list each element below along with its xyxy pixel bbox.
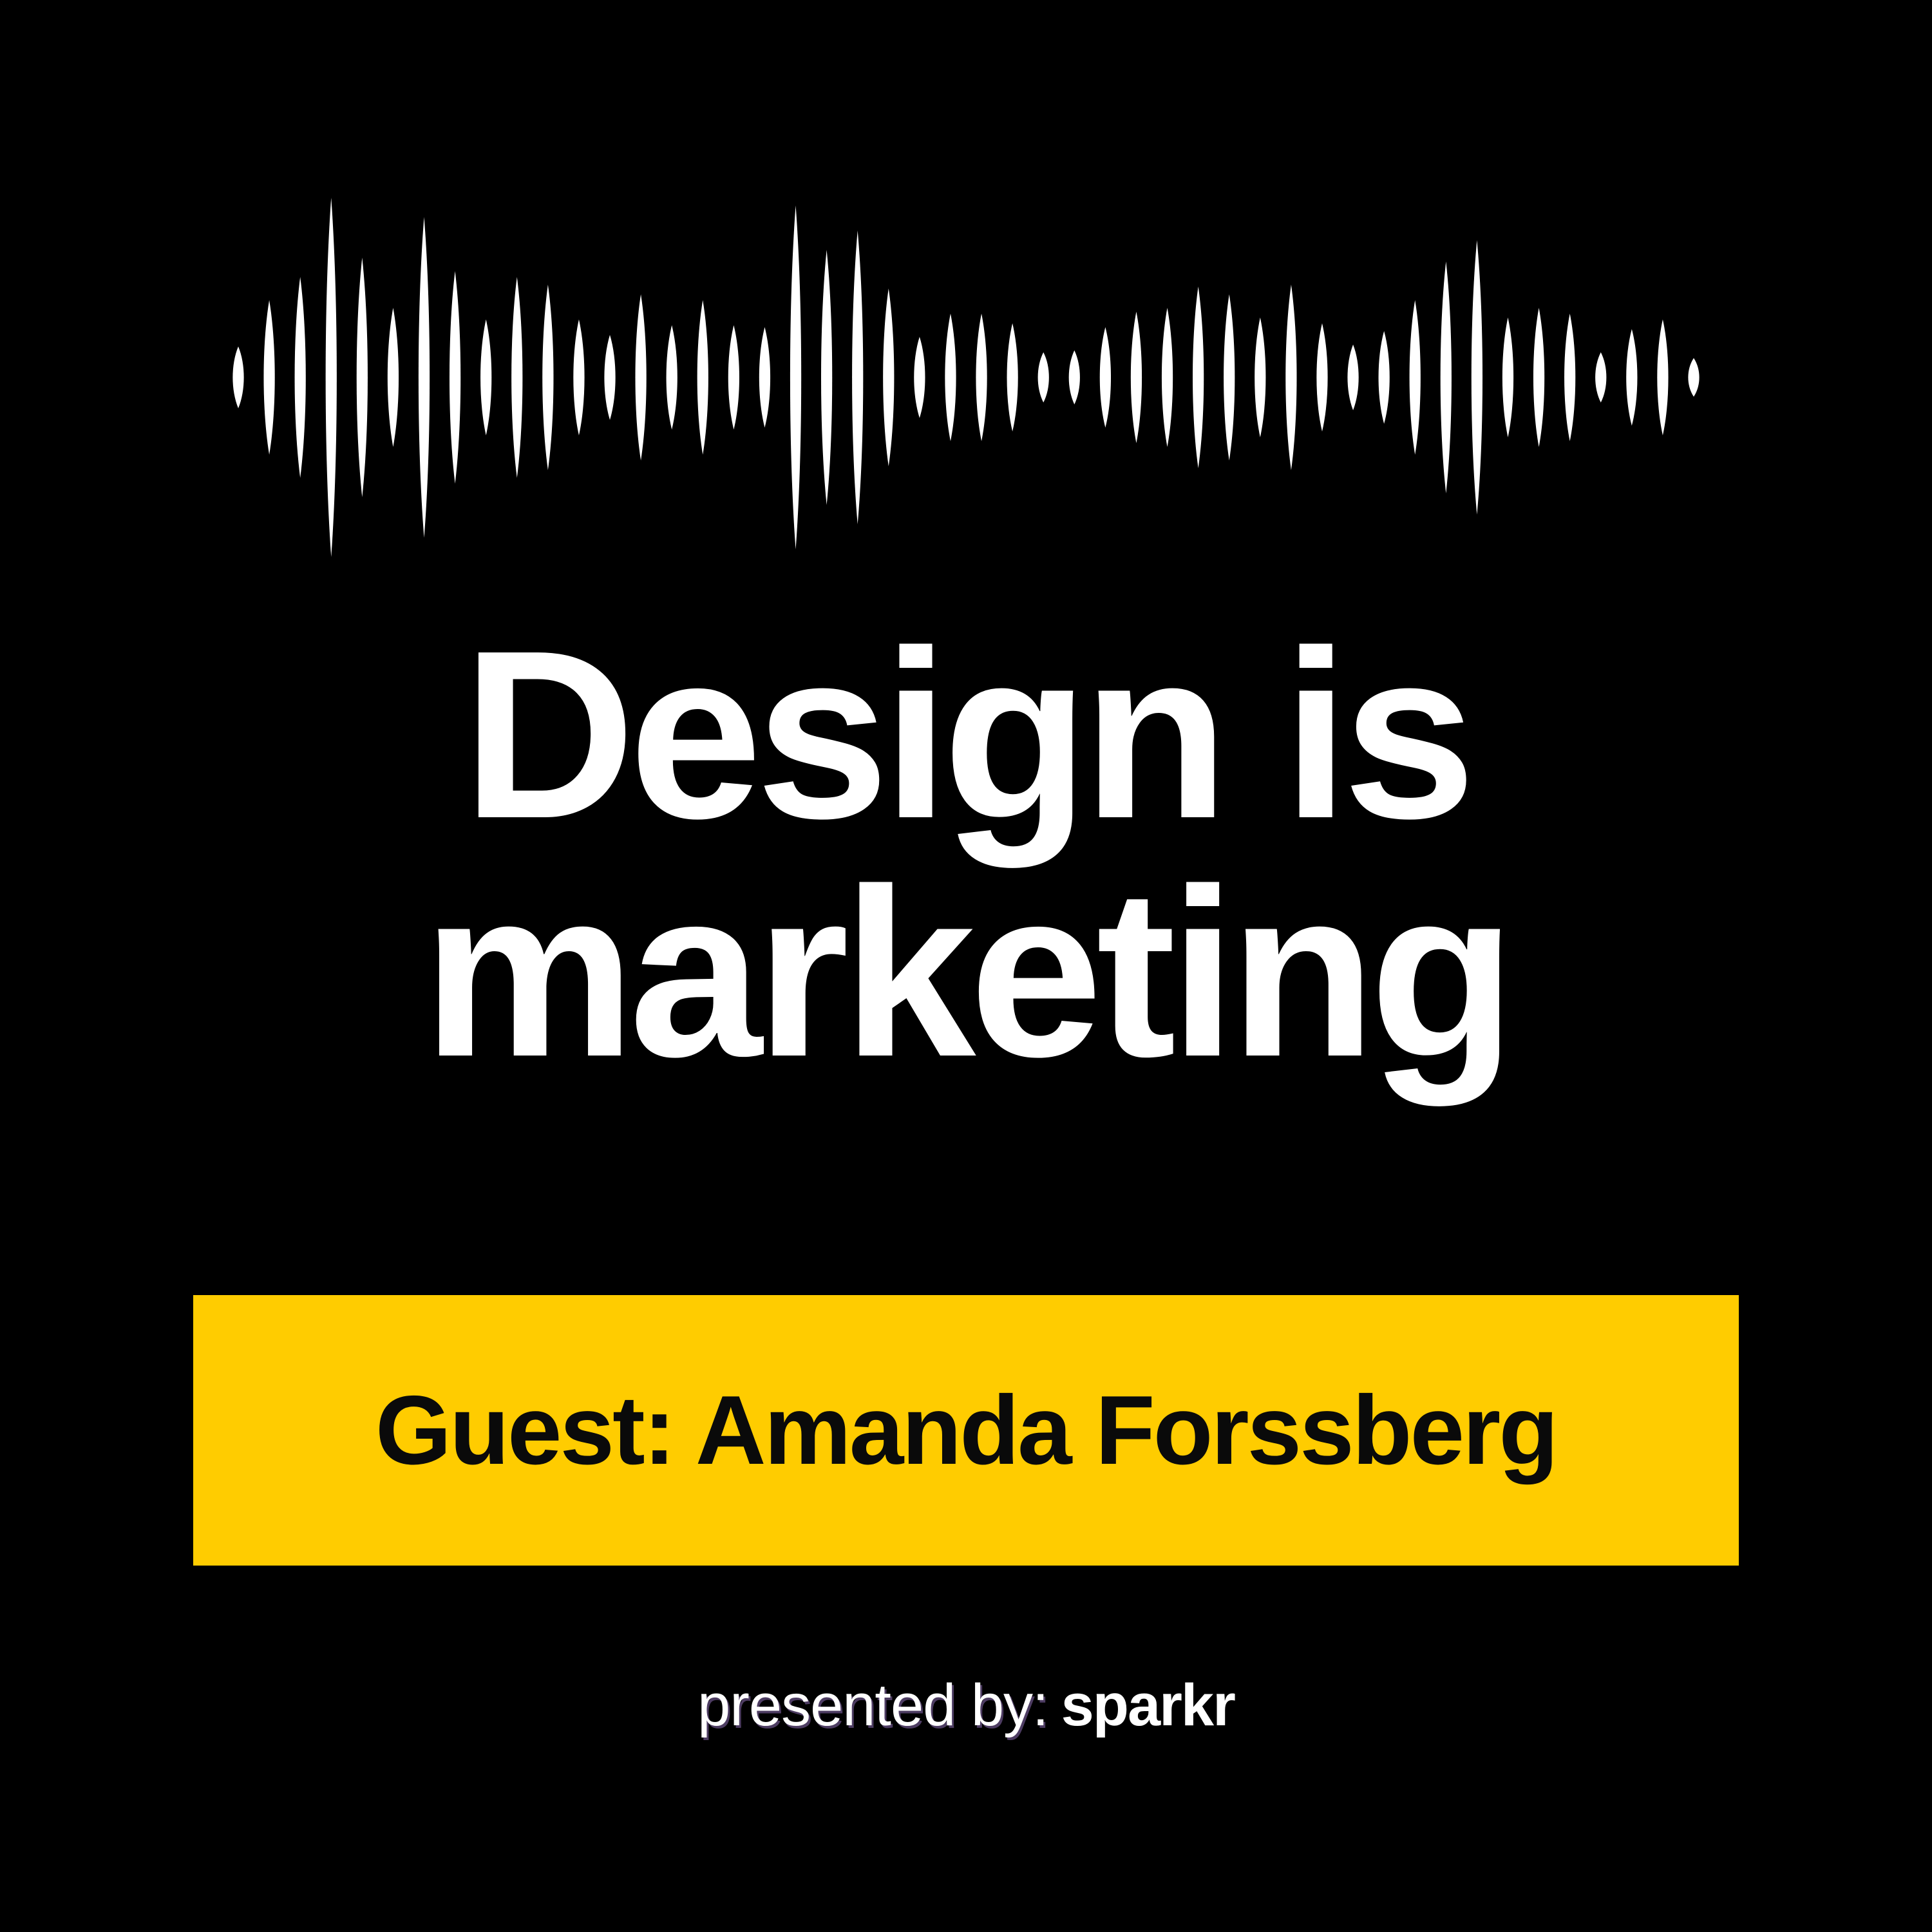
presented-by-label: presented by: xyxy=(697,1672,1048,1738)
waveform-bar xyxy=(728,325,739,430)
waveform-bar xyxy=(1347,345,1358,410)
waveform-bar xyxy=(1379,331,1390,424)
waveform-bar xyxy=(1255,317,1265,437)
waveform-bar xyxy=(667,325,677,430)
waveform-bar xyxy=(1193,287,1204,468)
waveform-bar xyxy=(1007,323,1018,431)
waveform-bar xyxy=(1441,261,1452,493)
credit-line: presented by:sparkr xyxy=(0,1672,1932,1739)
waveform-bar xyxy=(1626,329,1637,426)
waveform-bar xyxy=(976,314,987,441)
waveform-bar xyxy=(604,335,615,420)
waveform-bar xyxy=(1564,314,1575,441)
waveform-bar xyxy=(697,300,708,455)
waveform-bar xyxy=(573,319,584,435)
waveform-bar xyxy=(511,277,522,478)
waveform-bar xyxy=(1100,327,1111,428)
waveform-bar xyxy=(326,198,337,557)
guest-label: Guest: Amanda Forssberg xyxy=(375,1381,1557,1479)
waveform-bar xyxy=(1316,323,1327,431)
waveform-bar xyxy=(388,308,399,447)
waveform-bar xyxy=(1472,240,1482,515)
waveform-bar xyxy=(852,231,863,524)
waveform-bar xyxy=(542,285,553,470)
audio-waveform-icon xyxy=(0,0,1932,618)
waveform-bar xyxy=(232,346,243,408)
waveform-bar xyxy=(295,277,306,478)
waveform-bar xyxy=(1657,319,1668,435)
waveform-bar xyxy=(1688,358,1699,397)
waveform-bar xyxy=(945,314,956,441)
waveform-bar xyxy=(790,205,801,549)
waveform-bar xyxy=(914,337,925,418)
waveform-bar xyxy=(883,289,894,466)
waveform-bar xyxy=(263,300,274,455)
waveform-bar xyxy=(1595,352,1606,402)
waveform-bar xyxy=(450,271,460,484)
audio-waveform xyxy=(0,0,1932,618)
waveform-bar xyxy=(357,258,368,497)
waveform-bar xyxy=(1410,300,1421,455)
guest-banner: Guest: Amanda Forssberg xyxy=(193,1295,1739,1566)
waveform-bar xyxy=(821,250,832,505)
waveform-bar xyxy=(1038,352,1049,402)
waveform-bar xyxy=(759,327,770,428)
title-line-2: marketing xyxy=(0,853,1932,1092)
brand-name: sparkr xyxy=(1061,1672,1235,1738)
waveform-bar xyxy=(419,217,430,538)
waveform-bar xyxy=(1131,312,1142,443)
page-title: Design is marketing xyxy=(0,615,1932,1092)
waveform-bar xyxy=(635,294,646,460)
waveform-bar xyxy=(1502,317,1513,437)
waveform-bar xyxy=(1285,285,1296,470)
waveform-bar xyxy=(1533,308,1544,447)
waveform-bar xyxy=(480,319,491,435)
title-line-1: Design is xyxy=(0,615,1932,853)
waveform-bar xyxy=(1069,350,1080,404)
waveform-bar xyxy=(1224,294,1235,460)
podcast-cover-art: Design is marketing Guest: Amanda Forssb… xyxy=(0,0,1932,1932)
waveform-bar xyxy=(1162,308,1173,447)
